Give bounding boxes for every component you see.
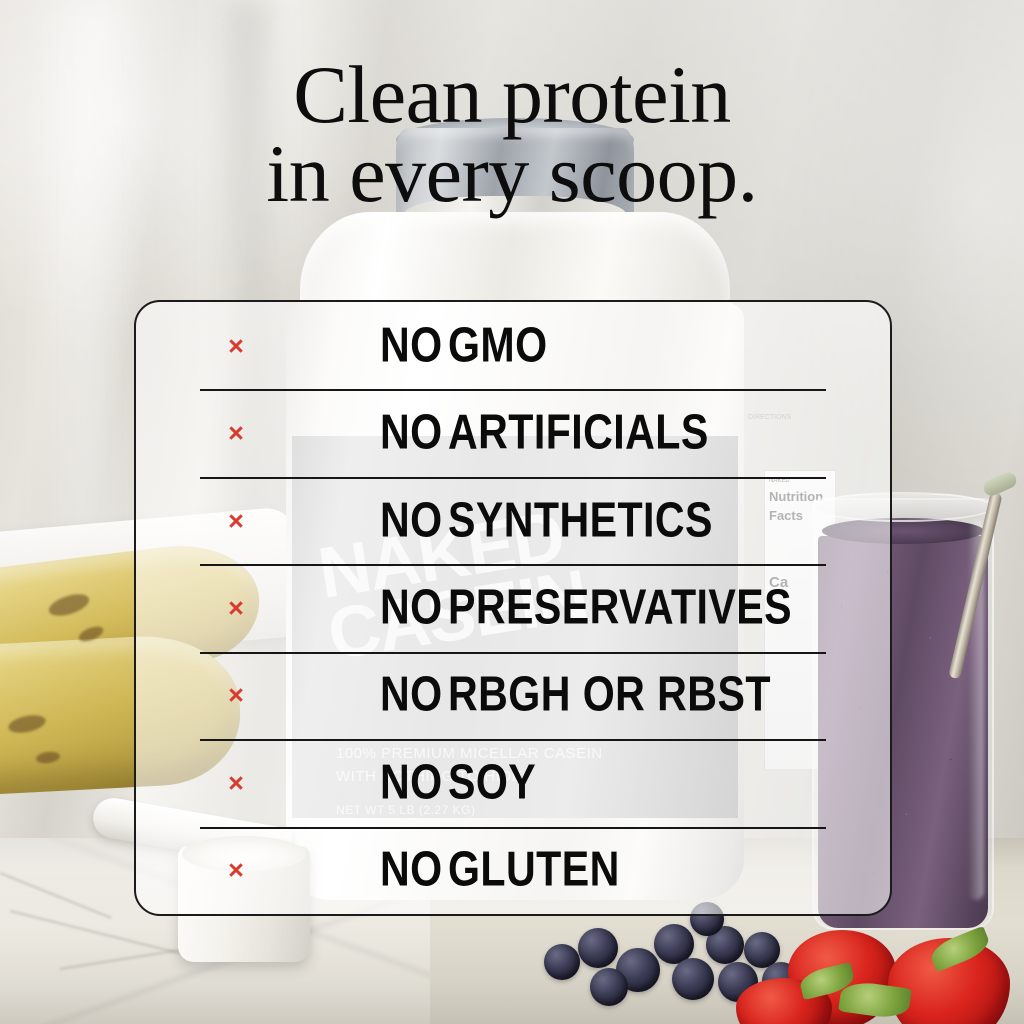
- claim-row: ×NOGLUTEN: [136, 827, 890, 914]
- headline: Clean protein in every scoop.: [0, 56, 1024, 213]
- x-mark-icon: ×: [223, 420, 249, 446]
- claim-word: PRESERVATIVES: [448, 583, 792, 632]
- claim-word: SYNTHETICS: [448, 496, 713, 545]
- claims-card: ×NOGMO×NOARTIFICIALS×NOSYNTHETICS×NOPRES…: [134, 300, 892, 916]
- claim-word: GMO: [448, 321, 548, 370]
- claims-list: ×NOGMO×NOARTIFICIALS×NOSYNTHETICS×NOPRES…: [136, 302, 890, 914]
- x-mark-icon: ×: [223, 682, 249, 708]
- claim-row: ×NOPRESERVATIVES: [136, 564, 890, 651]
- x-mark-icon: ×: [223, 857, 249, 883]
- claim-prefix: NO: [380, 321, 440, 370]
- headline-line-2: in every scoop.: [0, 135, 1024, 214]
- blueberry: [544, 944, 580, 980]
- claim-row: ×NORBGH OR RBST: [136, 652, 890, 739]
- headline-line-1: Clean protein: [293, 49, 731, 140]
- claim-text: NOSYNTHETICS: [380, 496, 763, 545]
- claim-prefix: NO: [380, 583, 440, 632]
- claim-word: RBGH OR RBST: [448, 671, 771, 720]
- claim-word: GLUTEN: [448, 846, 620, 895]
- claim-text: NOGMO: [380, 321, 567, 370]
- x-mark-icon: ×: [223, 508, 249, 534]
- x-mark-icon: ×: [223, 333, 249, 359]
- claim-row: ×NOSOY: [136, 739, 890, 826]
- blueberry: [672, 958, 714, 1000]
- claim-text: NOPRESERVATIVES: [380, 583, 858, 632]
- claim-text: NOARTIFICIALS: [380, 409, 758, 458]
- claim-prefix: NO: [380, 758, 440, 807]
- poster-canvas: NAKED CASEIN 100% PREMIUM MICELLAR CASEI…: [0, 0, 1024, 1024]
- blueberry: [578, 928, 618, 968]
- claim-prefix: NO: [380, 409, 440, 458]
- claim-row: ×NOGMO: [136, 302, 890, 389]
- blueberry: [590, 968, 628, 1006]
- claim-prefix: NO: [380, 846, 440, 895]
- x-mark-icon: ×: [223, 770, 249, 796]
- x-mark-icon: ×: [223, 595, 249, 621]
- claim-row: ×NOSYNTHETICS: [136, 477, 890, 564]
- claim-prefix: NO: [380, 496, 440, 545]
- claim-word: SOY: [448, 758, 536, 807]
- claim-prefix: NO: [380, 671, 440, 720]
- claim-word: ARTIFICIALS: [448, 409, 709, 458]
- claim-text: NORBGH OR RBST: [380, 671, 832, 720]
- claim-row: ×NOARTIFICIALS: [136, 389, 890, 476]
- claim-text: NOSOY: [380, 758, 553, 807]
- claim-text: NOGLUTEN: [380, 846, 652, 895]
